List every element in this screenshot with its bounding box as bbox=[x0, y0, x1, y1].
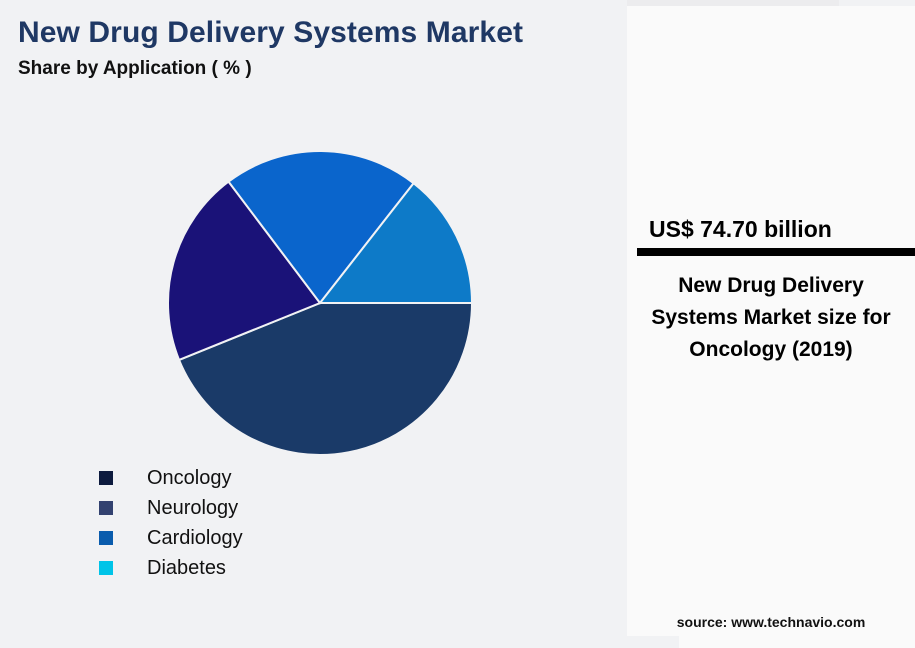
legend-swatch-neurology bbox=[99, 501, 113, 515]
panel-top-band-inner bbox=[627, 0, 839, 6]
stat-panel: US$ 74.70 billion New Drug Delivery Syst… bbox=[627, 0, 915, 648]
infographic-root: New Drug Delivery Systems Market Share b… bbox=[0, 0, 915, 648]
legend-swatch-diabetes bbox=[99, 561, 113, 575]
panel-bottom-strip bbox=[627, 636, 679, 648]
stat-value: US$ 74.70 billion bbox=[627, 216, 915, 243]
stat-divider bbox=[637, 248, 915, 256]
pie-chart-svg bbox=[168, 151, 472, 455]
legend-label-cardiology: Cardiology bbox=[147, 527, 243, 550]
legend-label-diabetes: Diabetes bbox=[147, 557, 226, 580]
legend-item-diabetes[interactable]: Diabetes bbox=[99, 553, 519, 583]
legend-swatch-oncology bbox=[99, 471, 113, 485]
legend-item-neurology[interactable]: Neurology bbox=[99, 493, 519, 523]
source-note: source: www.technavio.com bbox=[627, 614, 915, 630]
legend-label-oncology: Oncology bbox=[147, 467, 232, 490]
page-title: New Drug Delivery Systems Market bbox=[18, 16, 523, 50]
legend-item-oncology[interactable]: Oncology bbox=[99, 463, 519, 493]
chart-legend: Oncology Neurology Cardiology Diabetes bbox=[99, 463, 519, 583]
legend-label-neurology: Neurology bbox=[147, 497, 238, 520]
pie-chart bbox=[168, 151, 472, 455]
legend-swatch-cardiology bbox=[99, 531, 113, 545]
legend-item-cardiology[interactable]: Cardiology bbox=[99, 523, 519, 553]
chart-subtitle: Share by Application ( % ) bbox=[18, 58, 252, 80]
chart-panel: New Drug Delivery Systems Market Share b… bbox=[0, 0, 627, 648]
pie-slice-group bbox=[168, 151, 472, 455]
stat-caption: New Drug Delivery Systems Market size fo… bbox=[639, 270, 903, 366]
panel-top-band bbox=[627, 0, 915, 6]
